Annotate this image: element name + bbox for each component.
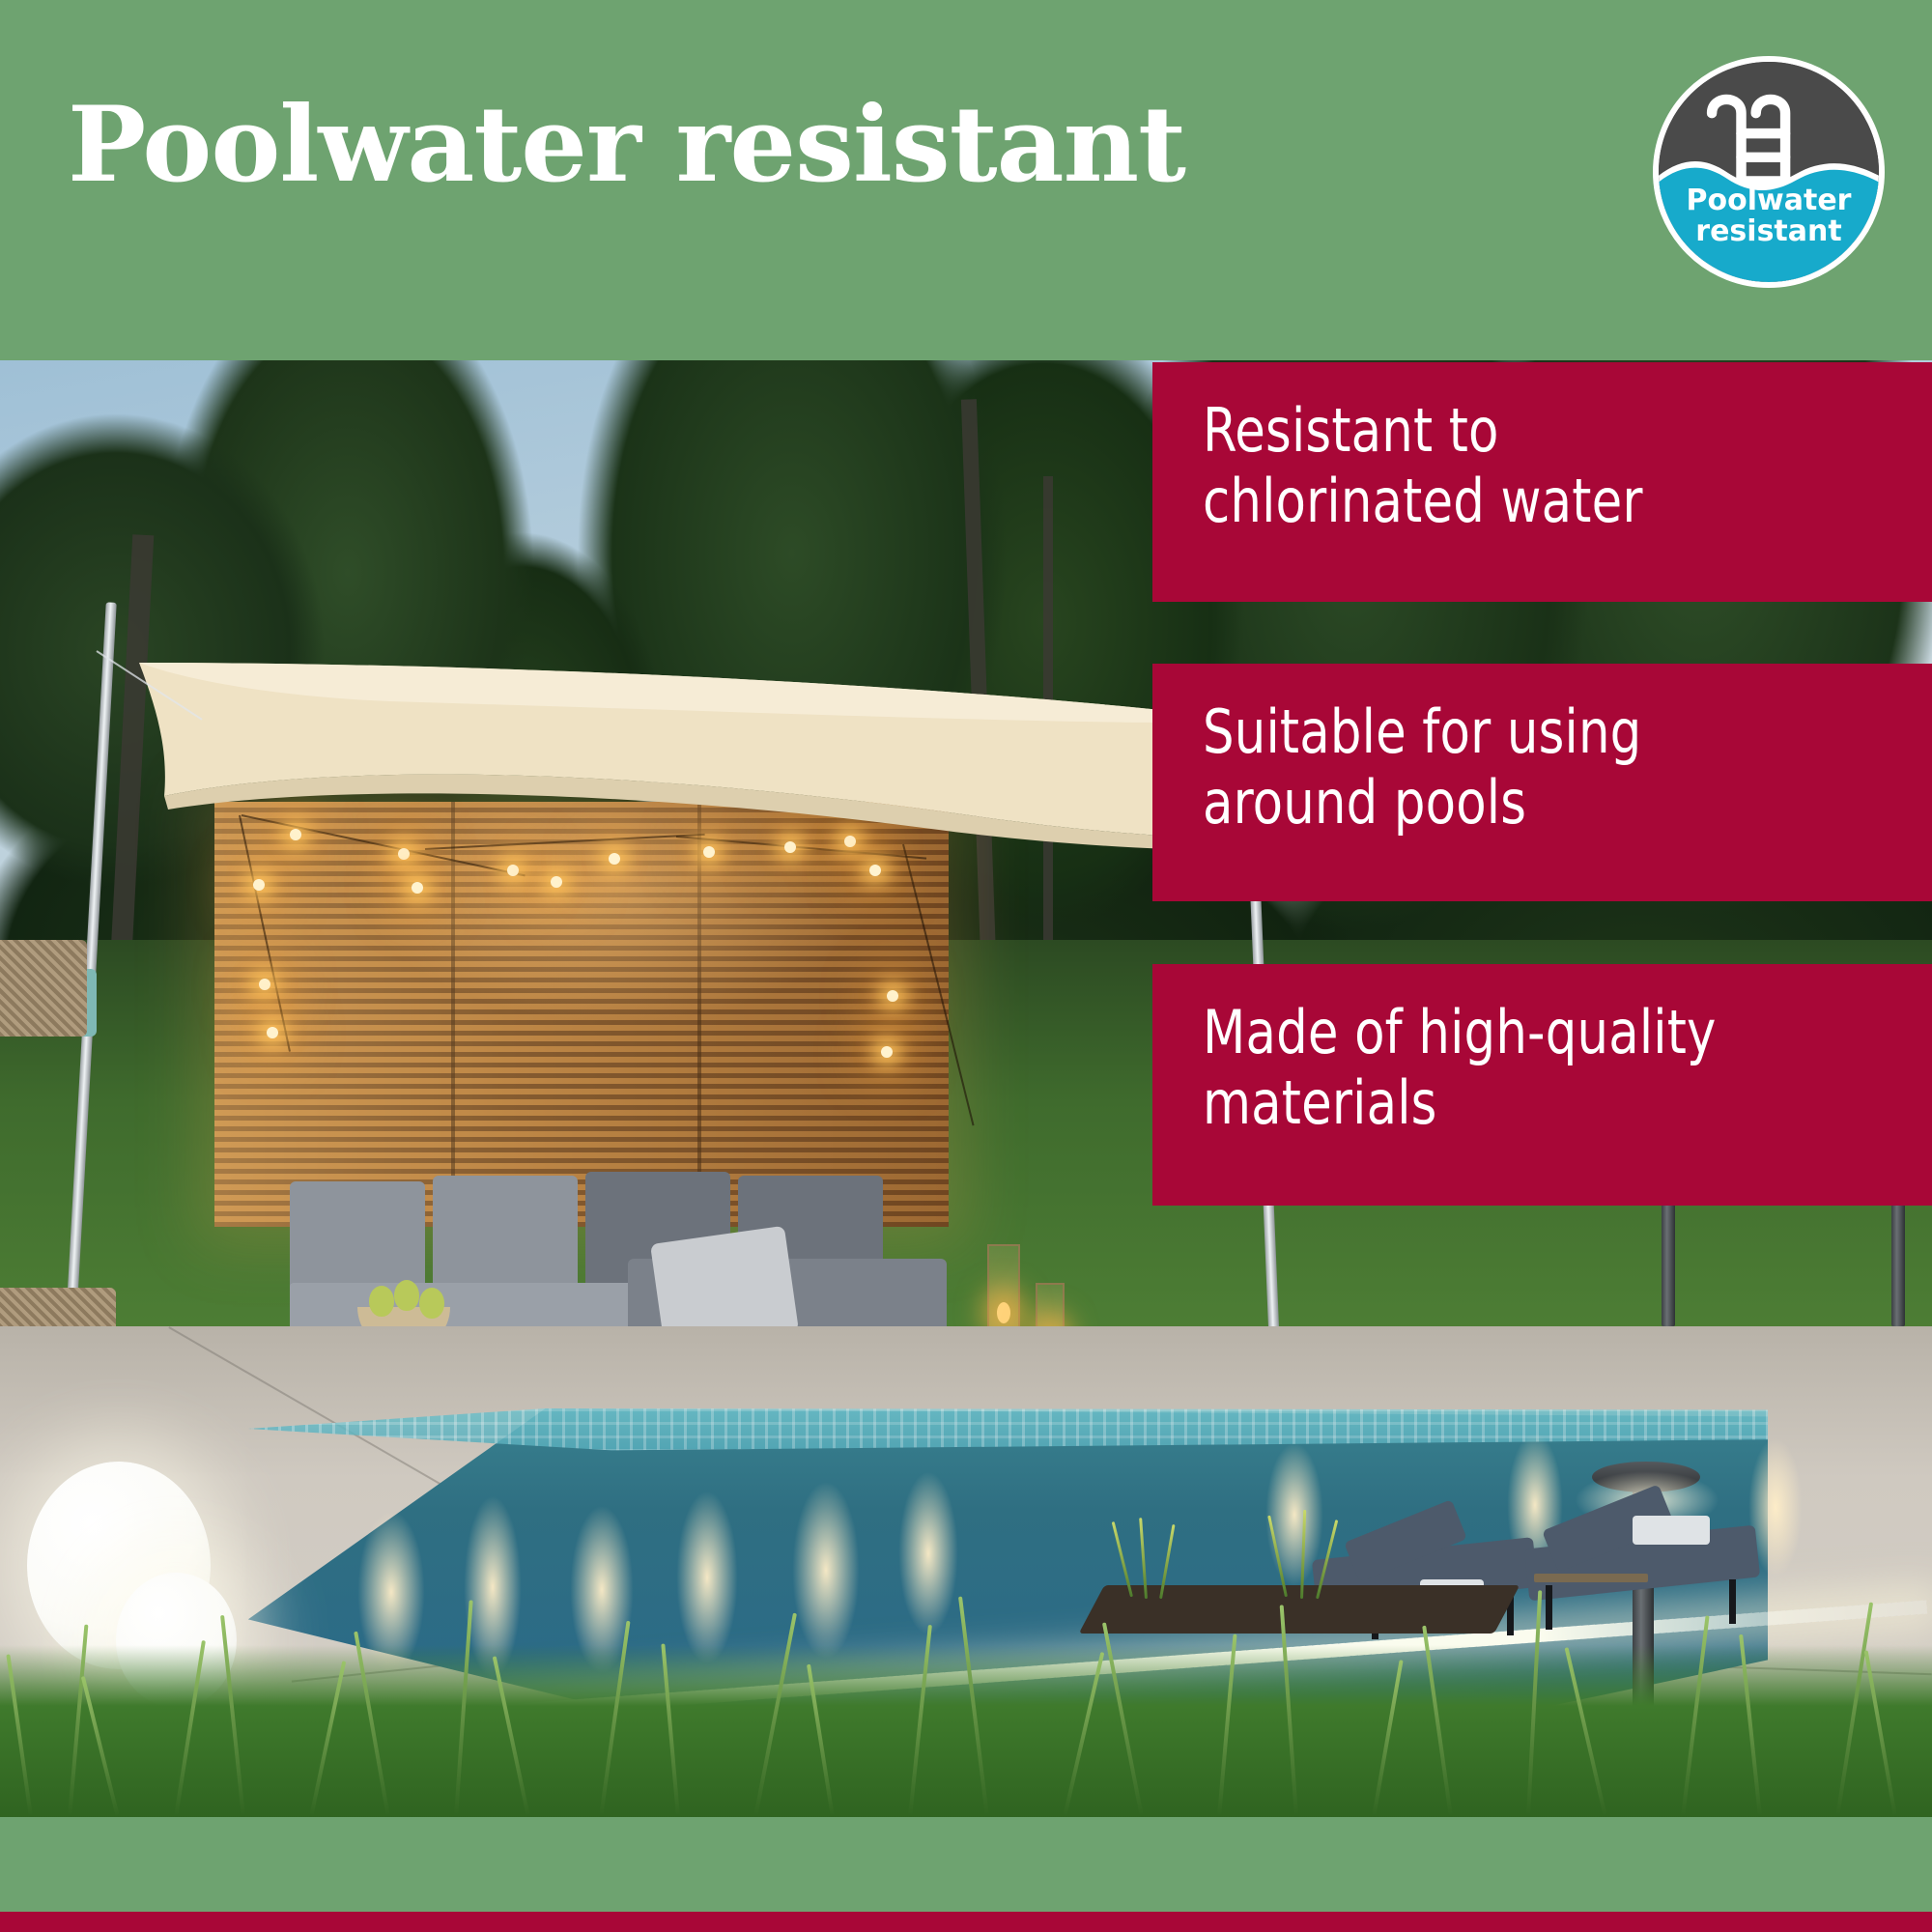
foreground-grass: [0, 1645, 1932, 1817]
string-light-bulb: [412, 882, 423, 894]
footer-green-band: [0, 1817, 1932, 1912]
water-reflection: [676, 1491, 738, 1664]
lounger-leg: [1546, 1585, 1552, 1630]
string-light-bulb: [267, 1027, 278, 1038]
feature-line-2a: Suitable for using: [1203, 696, 1874, 767]
pear: [369, 1286, 394, 1317]
string-light-bulb: [253, 879, 265, 891]
feature-block-1: Resistant to chlorinated water: [1152, 362, 1932, 602]
pool-ladder-icon: [1659, 62, 1879, 282]
lounger-armrest: [1534, 1574, 1648, 1582]
pear: [419, 1288, 444, 1319]
towel: [1633, 1516, 1710, 1545]
string-light-bulb: [881, 1046, 893, 1058]
water-reflection: [792, 1481, 860, 1660]
pear: [394, 1280, 419, 1311]
feature-line-3a: Made of high-quality: [1203, 997, 1874, 1067]
feature-line-1a: Resistant to: [1203, 395, 1874, 466]
feature-line-3b: materials: [1203, 1067, 1874, 1138]
feature-line-2b: around pools: [1203, 767, 1874, 838]
string-light-bulb: [551, 876, 562, 888]
poolwater-resistant-badge: Poolwater resistant: [1653, 56, 1885, 288]
feature-block-2: Suitable for using around pools: [1152, 664, 1932, 901]
header-band: Poolwater resistant Poolwater resistant: [0, 0, 1932, 360]
feature-block-3: Made of high-quality materials: [1152, 964, 1932, 1206]
wicker-sofa: [0, 940, 87, 1037]
string-light-bulb: [887, 990, 898, 1002]
page-title: Poolwater resistant: [68, 93, 1185, 197]
water-reflection: [898, 1471, 958, 1635]
feature-line-1b: chlorinated water: [1203, 466, 1874, 536]
footer-red-band: [0, 1912, 1932, 1932]
poolwater-resistant-infographic: Poolwater resistant Poolwater resistant: [0, 0, 1932, 1932]
lantern-flame: [997, 1302, 1010, 1323]
string-light-bulb: [259, 979, 270, 990]
lounger-leg: [1729, 1579, 1736, 1624]
